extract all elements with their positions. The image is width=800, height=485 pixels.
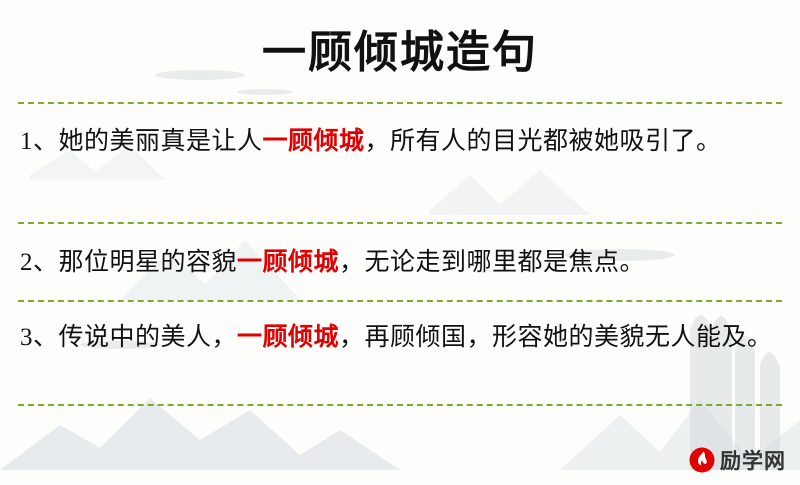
divider-2 [18, 300, 782, 302]
sentence-text-before-1: 她的美丽真是让人 [59, 128, 263, 155]
sentence-text-after-1: ，所有人的目光都被她吸引了。 [365, 128, 722, 155]
sentence-text-after-3: ，再顾倾国，形容她的美貌无人能及。 [339, 324, 773, 351]
sentence-item-1: 1、她的美丽真是让人一顾倾城，所有人的目光都被她吸引了。 [20, 122, 782, 162]
sentence-text-after-2: ，无论走到哪里都是焦点。 [339, 249, 645, 276]
keyword-highlight-2: 一顾倾城 [237, 249, 339, 276]
sentence-text-before-2: 那位明星的容貌 [59, 249, 238, 276]
divider-top [18, 102, 782, 104]
divider-1 [18, 222, 782, 224]
flame-logo-icon [689, 447, 715, 473]
sentence-text-before-3: 传说中的美人， [59, 324, 238, 351]
sentence-index-2: 2、 [20, 249, 59, 276]
sentence-item-3: 3、传说中的美人，一顾倾城，再顾倾国，形容她的美貌无人能及。 [20, 318, 782, 358]
page-title: 一顾倾城造句 [0, 16, 800, 80]
sentence-index-3: 3、 [20, 324, 59, 351]
sentence-item-2: 2、那位明星的容貌一顾倾城，无论走到哪里都是焦点。 [20, 243, 782, 283]
watermark-logo: 励学网 [689, 445, 786, 475]
watermark-brand-text: 励学网 [720, 445, 786, 475]
keyword-highlight-1: 一顾倾城 [263, 128, 365, 155]
keyword-highlight-3: 一顾倾城 [237, 324, 339, 351]
document-page: 一顾倾城造句 1、她的美丽真是让人一顾倾城，所有人的目光都被她吸引了。 2、那位… [0, 0, 800, 485]
sentence-index-1: 1、 [20, 128, 59, 155]
divider-bottom [18, 404, 782, 406]
